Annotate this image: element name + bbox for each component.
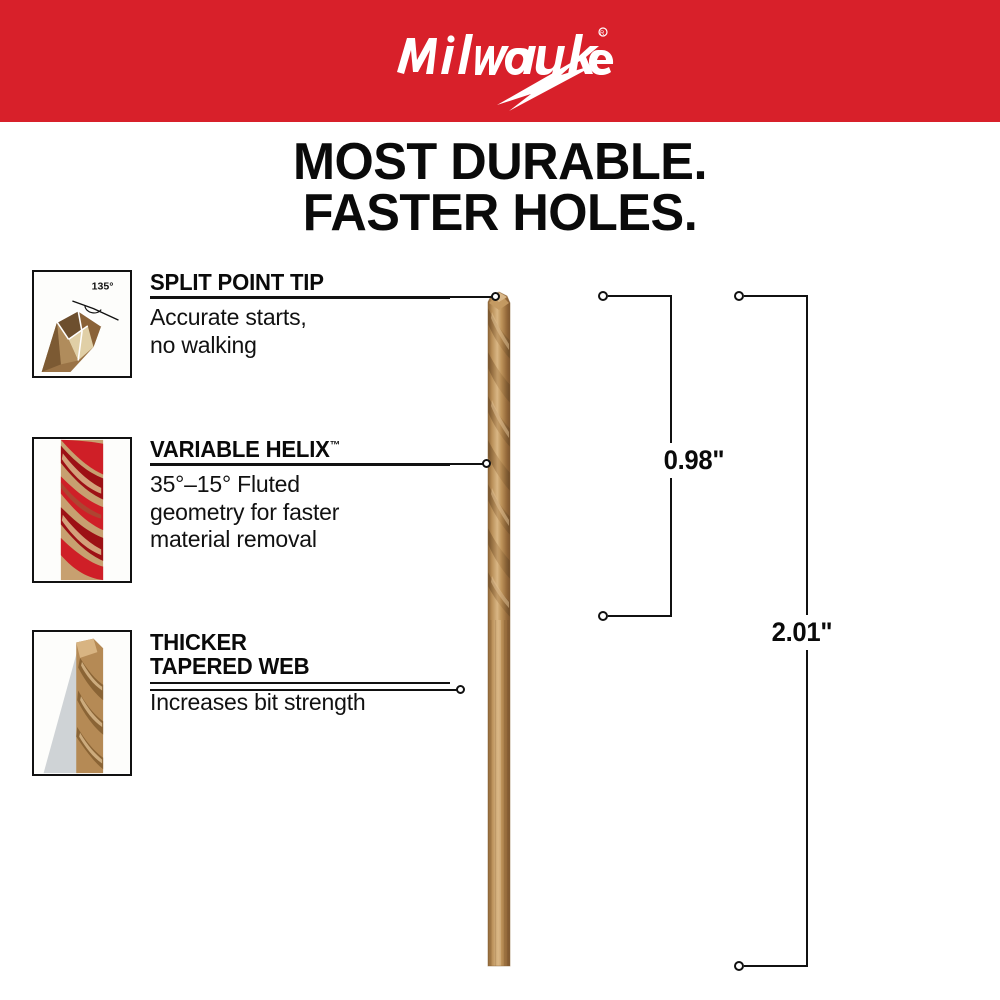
brand-header-bar: R — [0, 0, 1000, 122]
variable-helix-thumbnail — [32, 437, 132, 583]
headline-line-1: MOST DURABLE. — [293, 133, 707, 191]
feature-variable-helix: VARIABLE HELIX™ 35°–15° Fluted geometry … — [32, 437, 452, 597]
dim-line-bottom — [608, 615, 672, 617]
milwaukee-lightning-logo: R — [385, 12, 615, 112]
split-point-tip-thumbnail: 135° — [32, 270, 132, 378]
dim-label-flute-length: 0.98" — [656, 443, 732, 478]
headline-line-2: FASTER HOLES. — [15, 188, 985, 239]
leader-dot-split-point-tip — [491, 292, 500, 301]
dim-dot-bottom — [598, 611, 608, 621]
feature-description: 35°–15° Fluted geometry for faster mater… — [150, 471, 450, 552]
feature-title: VARIABLE HELIX™ — [150, 437, 438, 461]
leader-dot-variable-helix — [482, 459, 491, 468]
page-headline: MOST DURABLE. FASTER HOLES. — [15, 137, 985, 239]
thicker-tapered-web-thumbnail — [32, 630, 132, 776]
dim-line-bottom — [744, 965, 808, 967]
leader-line-split-point-tip — [150, 296, 493, 298]
svg-text:R: R — [600, 31, 605, 37]
feature-thicker-tapered-web: THICKER TAPERED WEB Increases bit streng… — [32, 630, 452, 790]
feature-description: Accurate starts, no walking — [150, 304, 450, 358]
dim-dot-bottom — [734, 961, 744, 971]
leader-dot-thicker-tapered-web — [456, 685, 465, 694]
feature-split-point-tip: 135° SPLIT POINT TIP Accurate starts, no… — [32, 270, 452, 390]
feature-title: THICKER TAPERED WEB — [150, 630, 438, 679]
dim-dot-top — [598, 291, 608, 301]
cobalt-twist-drill-bit — [470, 290, 528, 972]
thumb-angle-label: 135° — [92, 280, 114, 292]
dim-dot-top — [734, 291, 744, 301]
thicker-tapered-web-photo — [34, 632, 130, 774]
leader-line-thicker-tapered-web — [150, 689, 458, 691]
feature-title: SPLIT POINT TIP — [150, 270, 438, 294]
product-infographic: R MOST DURABLE. FASTER HOLES. — [0, 0, 1000, 1000]
dim-line-top — [744, 295, 808, 297]
leader-line-variable-helix — [150, 463, 484, 465]
feature-rule — [150, 682, 450, 684]
dim-line-top — [608, 295, 672, 297]
drill-point-tip-photo: 135° — [34, 272, 130, 376]
variable-helix-flute-photo — [34, 439, 130, 581]
feature-description: Increases bit strength — [150, 689, 450, 716]
dim-label-overall-length: 2.01" — [764, 615, 840, 650]
